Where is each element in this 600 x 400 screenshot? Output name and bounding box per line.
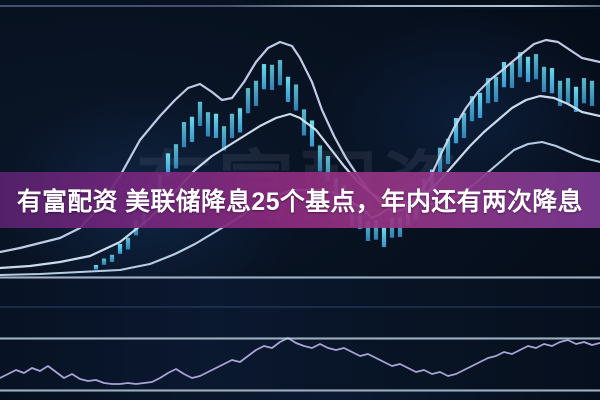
oscillator-line bbox=[0, 338, 600, 384]
headline-banner: 有富配资 美联储降息25个基点，年内还有两次降息 bbox=[0, 172, 600, 228]
chart-image-canvas: 有富配资 有富配资 美联储降息 bbox=[0, 0, 600, 400]
separator-price-macd bbox=[0, 276, 600, 279]
separator-oscillator-footer bbox=[0, 389, 600, 392]
separator-macd-oscillator bbox=[0, 337, 600, 340]
headline-text: 有富配资 美联储降息25个基点，年内还有两次降息 bbox=[17, 182, 583, 218]
macd-histogram-bars bbox=[3, 281, 598, 328]
